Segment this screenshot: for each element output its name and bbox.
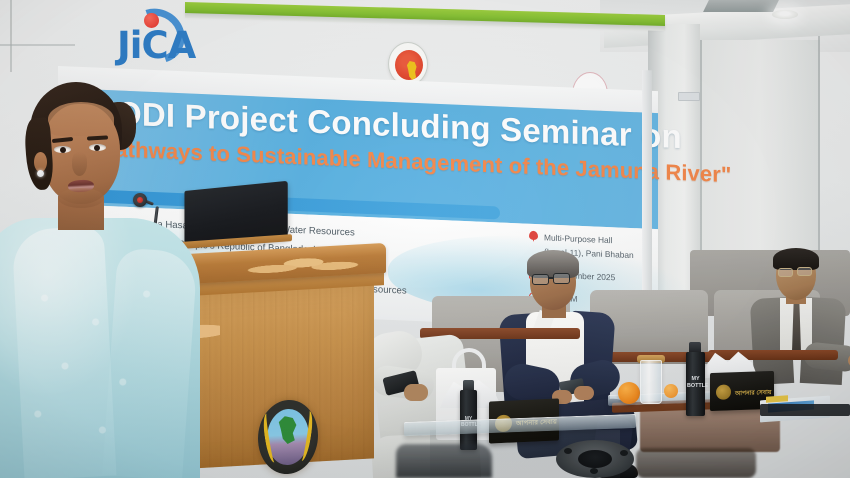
location-pin-icon <box>529 231 538 243</box>
orange-fruit <box>618 382 640 404</box>
hand <box>404 384 428 401</box>
forehead <box>48 102 114 136</box>
eye-left <box>54 146 71 153</box>
ceiling-vent <box>703 0 779 12</box>
ear <box>34 152 47 172</box>
nose <box>72 152 87 176</box>
drinking-glass <box>640 360 662 404</box>
sofa-wood-trim <box>708 350 838 360</box>
eyeglasses-bridge <box>548 277 554 279</box>
sari-lace-pattern <box>14 270 184 470</box>
dark-table-far-right <box>760 404 850 416</box>
orange-fruit-small <box>664 384 678 398</box>
eye-right <box>89 144 106 151</box>
base-hole <box>564 448 572 454</box>
bottle-label-text: MY BOTTLE <box>687 376 704 389</box>
eyeglasses-icon <box>532 274 549 285</box>
woman-speaker <box>0 60 202 478</box>
hand-right <box>574 386 594 400</box>
eyeglasses-icon <box>797 267 812 276</box>
wooden-furniture-foreground <box>640 404 780 452</box>
chin <box>58 188 104 208</box>
emblem-inner-disc <box>395 50 423 80</box>
wall-seam <box>0 44 75 46</box>
bangladesh-map-shape-icon <box>406 61 418 80</box>
foreground-shadow-right <box>636 448 756 478</box>
podium-bwdb-emblem-icon <box>258 398 318 475</box>
pearl-earring <box>37 170 44 177</box>
tissue-box-seal-icon <box>716 384 731 400</box>
wall-sign-plate <box>678 92 700 101</box>
base-hole <box>590 468 598 474</box>
eyeglasses-icon <box>553 273 570 284</box>
water-bottle-right: MY BOTTLE <box>686 352 705 416</box>
seminar-photo-scene: JiCA NODI Project Concluding Seminar on … <box>0 0 850 478</box>
metal-table-base <box>556 440 634 478</box>
base-hole <box>620 450 628 456</box>
hair <box>773 248 819 270</box>
jica-logo: JiCA <box>105 6 201 68</box>
foreground-shadow-left <box>396 444 492 478</box>
ceiling-downlight-icon <box>772 10 798 19</box>
eyeglasses-icon <box>778 268 793 277</box>
